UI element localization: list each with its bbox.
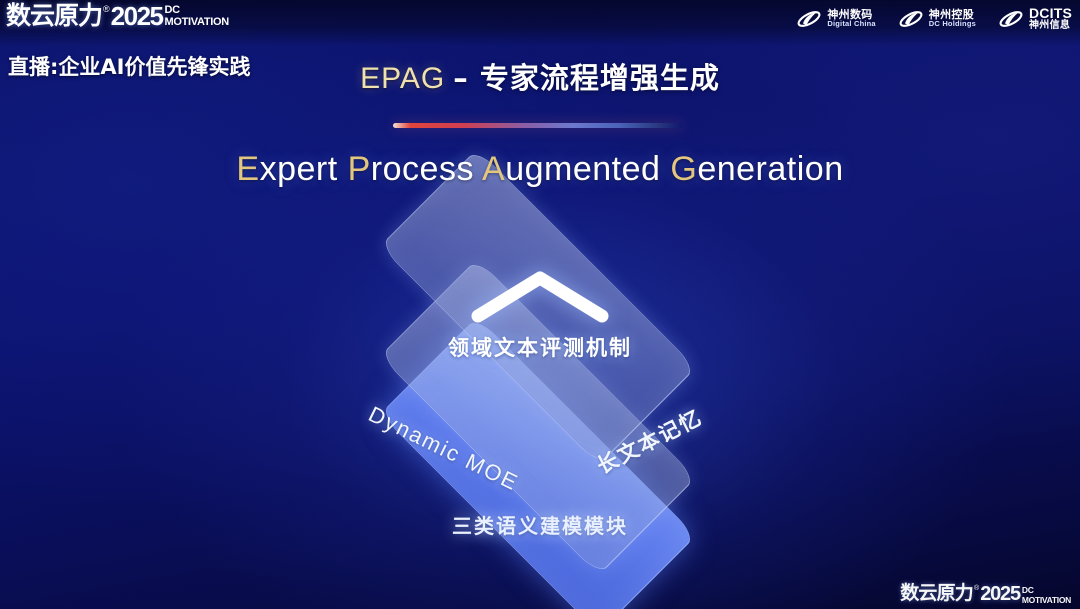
subtitle-rest-expert: xpert <box>260 150 348 188</box>
subtitle-rest-augmented: ugmented <box>505 150 670 188</box>
subtitle-cap-e: E <box>236 150 259 188</box>
subtitle-cap-p: P <box>348 150 371 188</box>
brand-dc-motivation: DC MOTIVATION <box>165 5 229 28</box>
partner-label-group: 神州控股 DC Holdings <box>929 9 976 28</box>
slide-canvas: 数云原力 ® 2025 DC MOTIVATION 直播:企业AI价值先锋实践 … <box>0 0 1080 609</box>
watermark-dc-label: DC <box>1022 586 1071 595</box>
chevron-up-icon <box>470 268 610 324</box>
partner-logo-group: 神州数码 Digital China 神州控股 DC Holdings DCIT… <box>796 6 1072 31</box>
partner-logo-dcits: DCITS 神州信息 <box>998 6 1072 31</box>
partner-label-group: DCITS 神州信息 <box>1029 6 1072 31</box>
brand-dc-label: DC <box>165 5 229 16</box>
watermark-year: 2025 <box>980 584 1020 604</box>
live-stream-subtitle: 直播:企业AI价值先锋实践 <box>8 51 250 81</box>
watermark-motivation-label: MOTIVATION <box>1022 596 1071 605</box>
subtitle-cap-a: A <box>482 150 505 188</box>
watermark-registered-mark-icon: ® <box>974 585 979 592</box>
partner-label-group: 神州数码 Digital China <box>827 9 875 28</box>
brand-logo-top-left: 数云原力 ® 2025 DC MOTIVATION <box>6 3 229 29</box>
partner-name-en: DC Holdings <box>929 20 976 28</box>
layer-label-top: 领域文本评测机制 <box>0 332 1080 362</box>
subtitle-rest-process: rocess <box>371 150 482 188</box>
registered-mark-icon: ® <box>103 4 110 14</box>
subtitle-cap-g: G <box>670 150 697 188</box>
partner-name-cn: 神州信息 <box>1029 21 1072 32</box>
watermark-name-cn: 数云原力 <box>900 584 973 603</box>
partner-logo-dc-holdings: 神州控股 DC Holdings <box>898 7 976 31</box>
swirl-logo-icon <box>998 7 1024 31</box>
swirl-logo-icon <box>898 7 924 31</box>
subtitle-rest-generation: eneration <box>697 150 843 188</box>
swirl-logo-icon <box>796 7 822 31</box>
brand-watermark-bottom-right: 数云原力 ® 2025 DC MOTIVATION <box>900 584 1071 604</box>
brand-year: 2025 <box>111 3 163 29</box>
watermark-dc-motivation: DC MOTIVATION <box>1022 586 1071 604</box>
english-subtitle: Expert Process Augmented Generation <box>0 150 1080 189</box>
gradient-divider <box>393 123 683 128</box>
brand-motivation-label: MOTIVATION <box>165 17 229 28</box>
partner-name-en: Digital China <box>827 20 875 28</box>
partner-logo-digital-china: 神州数码 Digital China <box>796 7 875 31</box>
layer-label-bottom: 三类语义建模模块 <box>0 510 1080 539</box>
title-chinese: – 专家流程增强生成 <box>453 61 720 95</box>
partner-name-en: DCITS <box>1029 6 1072 21</box>
title-acronym: EPAG <box>360 62 445 95</box>
brand-name-cn: 数云原力 <box>6 3 102 28</box>
